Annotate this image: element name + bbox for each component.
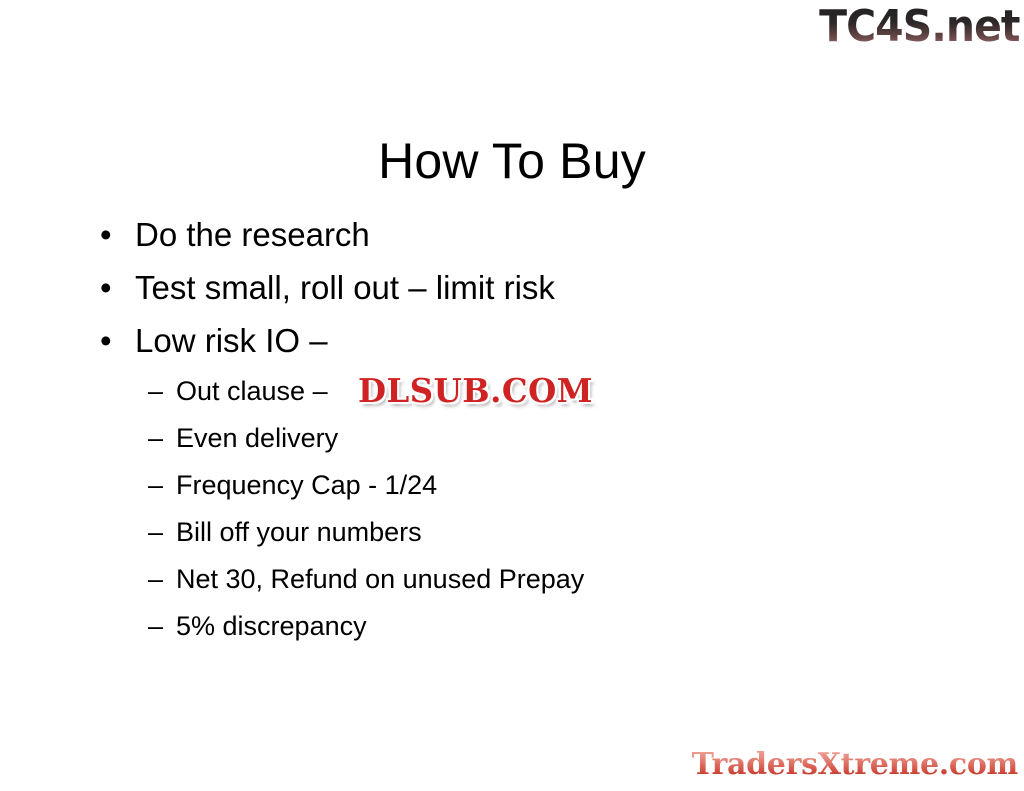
- page-title: How To Buy: [0, 131, 1024, 191]
- slide-canvas: How To Buy • Do the research • Test smal…: [0, 0, 1024, 791]
- tc4s-watermark: TC4S.net: [820, 2, 1020, 52]
- bullet-marker: –: [148, 465, 176, 505]
- bullet-marker: –: [148, 559, 176, 599]
- list-item-label: Out clause –: [176, 371, 328, 411]
- bullet-marker: –: [148, 512, 176, 552]
- list-item: – Bill off your numbers: [0, 512, 1024, 559]
- list-item: • Test small, roll out – limit risk: [0, 265, 1024, 318]
- list-item: – Even delivery: [0, 418, 1024, 465]
- dlsub-watermark: DLSUB.COM: [358, 371, 593, 411]
- list-item: – 5% discrepancy: [0, 606, 1024, 653]
- list-item-label: Frequency Cap - 1/24: [176, 465, 437, 505]
- bullet-marker: –: [148, 371, 176, 411]
- list-item-label: Test small, roll out – limit risk: [135, 265, 555, 311]
- tradersxtreme-watermark: TradersXtreme.com TradersXtreme.com: [692, 746, 1018, 784]
- bullet-marker: •: [100, 212, 135, 258]
- list-item-label: Low risk IO –: [135, 318, 328, 364]
- bullet-marker: •: [100, 265, 135, 311]
- list-item-label: Bill off your numbers: [176, 512, 422, 552]
- list-item-label: Do the research: [135, 212, 370, 258]
- list-item-label: Even delivery: [176, 418, 338, 458]
- bullet-list: • Do the research • Test small, roll out…: [0, 212, 1024, 653]
- list-item-label: 5% discrepancy: [176, 606, 367, 646]
- list-item: – Net 30, Refund on unused Prepay: [0, 559, 1024, 606]
- list-item: • Do the research: [0, 212, 1024, 265]
- list-item: – Frequency Cap - 1/24: [0, 465, 1024, 512]
- list-item: • Low risk IO –: [0, 318, 1024, 371]
- tradersxtreme-watermark-fill: TradersXtreme.com: [692, 747, 1018, 782]
- list-item-label: Net 30, Refund on unused Prepay: [176, 559, 584, 599]
- bullet-marker: –: [148, 418, 176, 458]
- bullet-marker: •: [100, 318, 135, 364]
- bullet-marker: –: [148, 606, 176, 646]
